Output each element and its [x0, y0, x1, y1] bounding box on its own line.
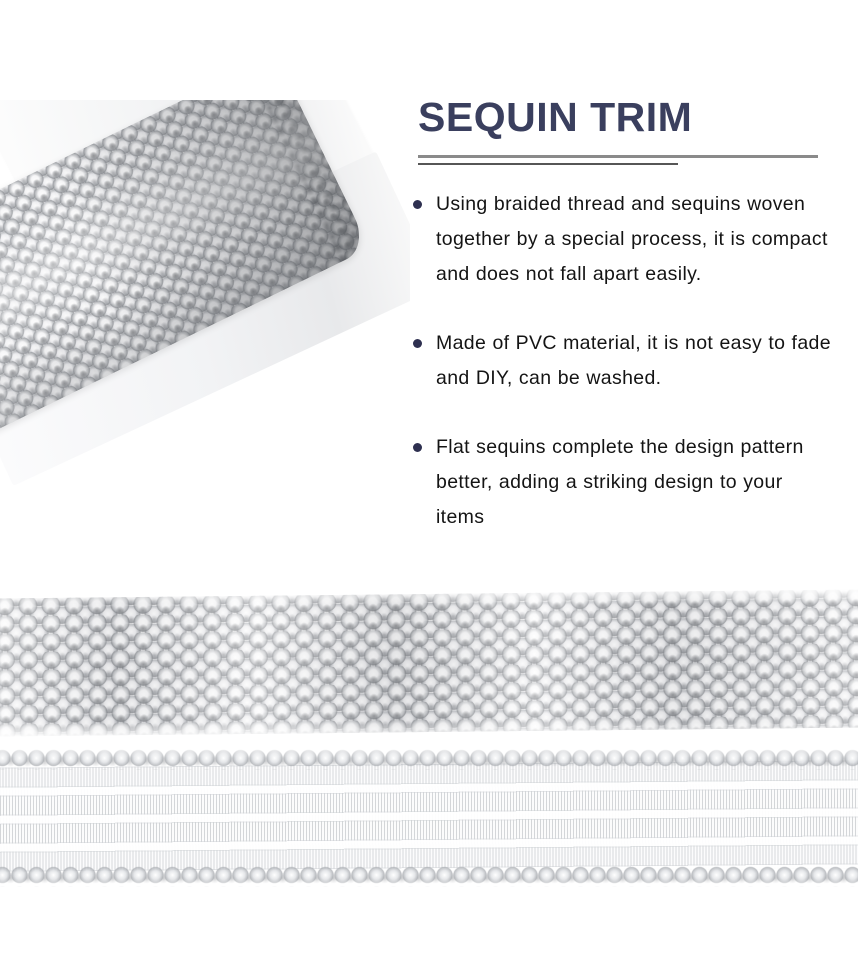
product-photo-sequin-roll — [0, 100, 410, 560]
feature-text: Flat sequins complete the design pattern… — [436, 436, 804, 528]
title-divider-group — [412, 155, 832, 165]
bullet-dot-icon — [413, 200, 422, 209]
product-photo-trim-front — [0, 588, 858, 738]
list-item: Using braided thread and sequins woven t… — [412, 187, 832, 292]
elastic-webbing — [0, 756, 858, 876]
list-item: Flat sequins complete the design pattern… — [412, 430, 832, 535]
text-panel: SEQUIN TRIM Using braided thread and seq… — [412, 96, 832, 535]
list-item: Made of PVC material, it is not easy to … — [412, 326, 832, 396]
trim-front-strip — [0, 589, 858, 736]
sequin-fringe-bottom — [0, 865, 858, 887]
bullet-dot-icon — [413, 339, 422, 348]
feature-list: Using braided thread and sequins woven t… — [412, 187, 832, 535]
feature-text: Made of PVC material, it is not easy to … — [436, 332, 831, 389]
bullet-dot-icon — [413, 443, 422, 452]
product-photo-trim-back — [0, 746, 858, 891]
sequin-texture-front — [0, 589, 858, 736]
webbing-stitch-rows — [0, 756, 858, 876]
sequin-fringe-top — [0, 748, 858, 770]
divider-thick — [418, 155, 818, 158]
product-infographic: SEQUIN TRIM Using braided thread and seq… — [0, 0, 858, 960]
feature-text: Using braided thread and sequins woven t… — [436, 193, 828, 285]
divider-thin — [418, 163, 678, 165]
page-title: SEQUIN TRIM — [412, 96, 832, 139]
